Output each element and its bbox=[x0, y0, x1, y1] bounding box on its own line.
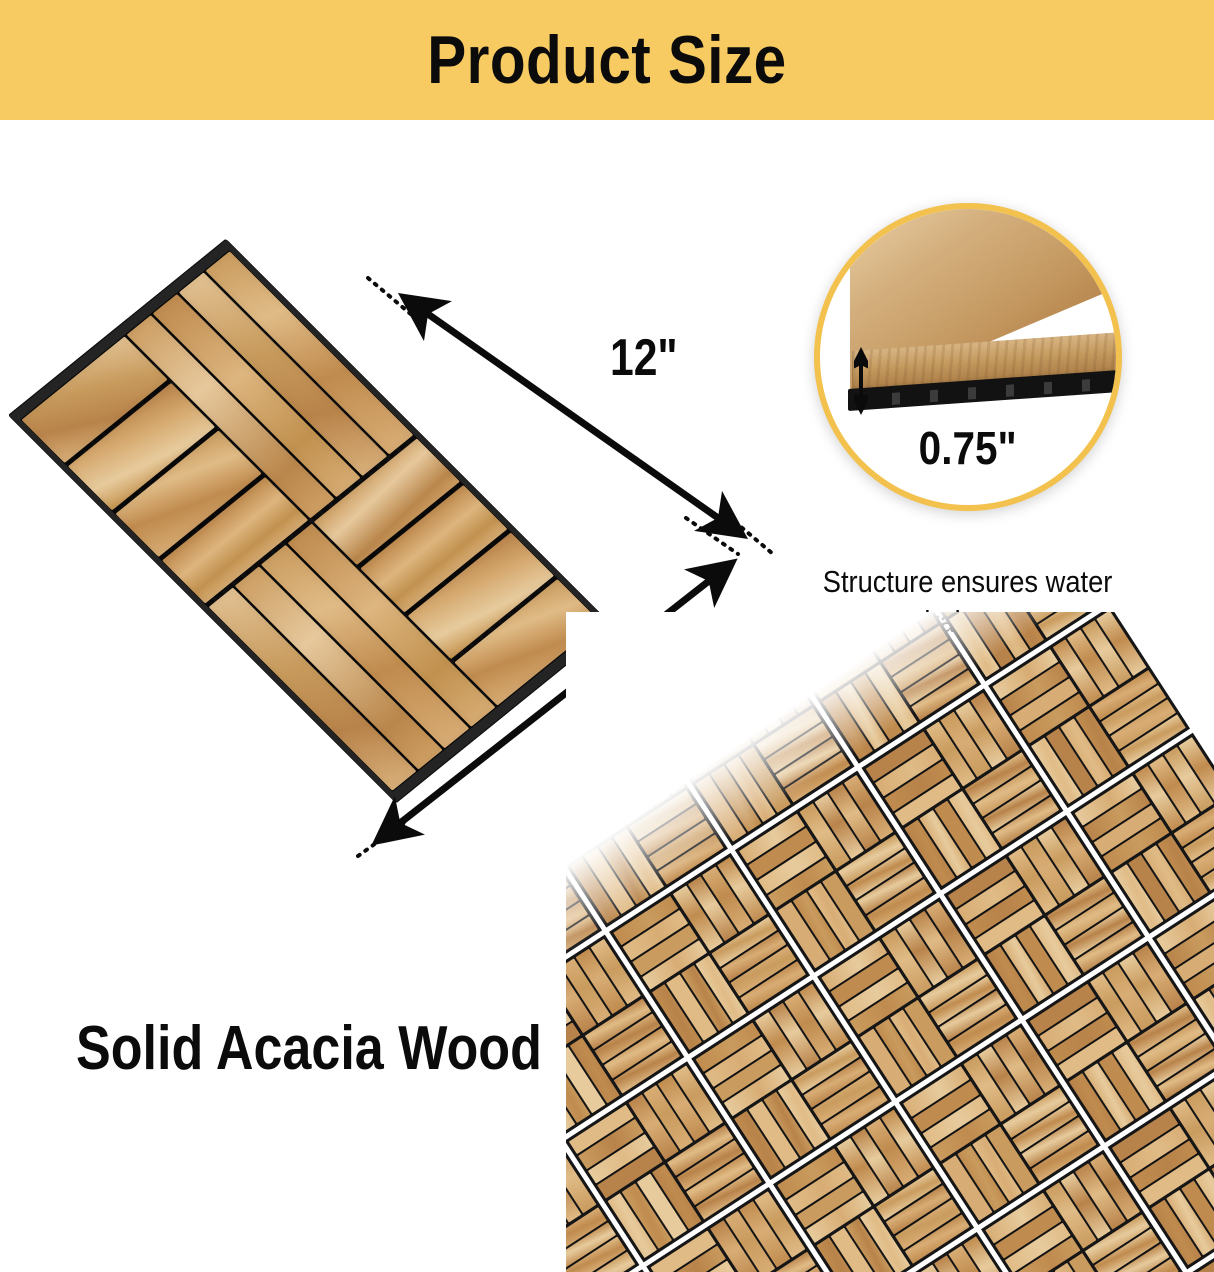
thickness-value: 0.75" bbox=[919, 421, 1017, 475]
callout-content: 0.75" bbox=[820, 209, 1116, 505]
dimension-label-width: 12" bbox=[610, 328, 678, 388]
caption-line-1: Structure ensures water bbox=[823, 562, 1113, 602]
deck-tile-grid bbox=[566, 612, 1214, 1272]
witness-line bbox=[686, 518, 738, 554]
header-band: Product Size bbox=[0, 0, 1214, 120]
thickness-callout-circle: 0.75" bbox=[814, 203, 1122, 511]
thickness-label: 0.75" bbox=[820, 421, 1116, 475]
witness-line bbox=[368, 278, 413, 316]
witness-line bbox=[358, 820, 408, 856]
isometric-tile bbox=[21, 251, 600, 791]
assembled-deck-photo bbox=[566, 612, 1214, 1272]
page-title: Product Size bbox=[427, 26, 786, 94]
material-headline-text: Solid Acacia Wood bbox=[76, 1018, 542, 1080]
material-headline: Solid Acacia Wood bbox=[76, 1018, 631, 1080]
thickness-arrow-icon bbox=[854, 343, 868, 419]
witness-line bbox=[728, 516, 773, 554]
